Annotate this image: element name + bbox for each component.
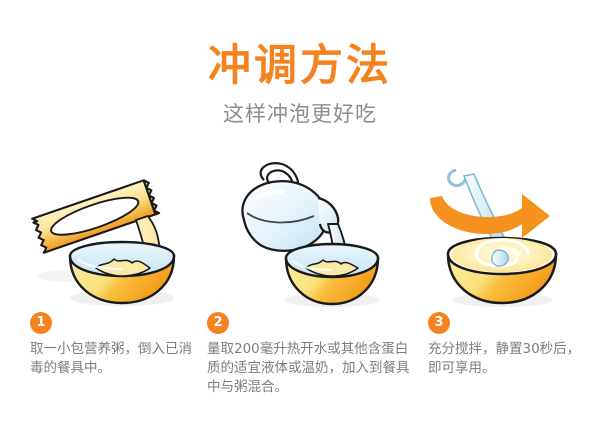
page-subtitle: 这样冲泡更好吃 [0,101,600,127]
water-pitcher [242,163,338,251]
step-2-text: 量取200毫升热开水或其他含蛋白质的适宜液体或温奶，加入到餐具中与粥混合。 [207,340,412,397]
illustration-step-3 [412,158,590,310]
instruction-infographic: 冲调方法 这样冲泡更好吃 [0,0,600,432]
step-3-text: 充分搅拌，静置30秒后，即可享用。 [428,340,588,378]
step-2: 2 量取200毫升热开水或其他含蛋白质的适宜液体或温奶，加入到餐具中与粥混合。 [207,312,412,397]
illustration-step-2 [228,158,410,310]
step-3-badge: 3 [428,312,450,334]
step-1: 1 取一小包营养粥，倒入已消毒的餐具中。 [30,312,202,378]
step-1-text: 取一小包营养粥，倒入已消毒的餐具中。 [30,340,202,378]
bowl [448,238,556,303]
step-1-badge: 1 [30,312,52,334]
step-2-badge: 2 [207,312,229,334]
illustration-row [0,158,600,310]
step-3: 3 充分搅拌，静置30秒后，即可享用。 [428,312,588,378]
header: 冲调方法 这样冲泡更好吃 [0,40,600,127]
page-title: 冲调方法 [0,40,600,92]
steps-row: 1 取一小包营养粥，倒入已消毒的餐具中。 2 量取200毫升热开水或其他含蛋白质… [0,312,600,432]
illustration-step-1 [18,158,218,310]
